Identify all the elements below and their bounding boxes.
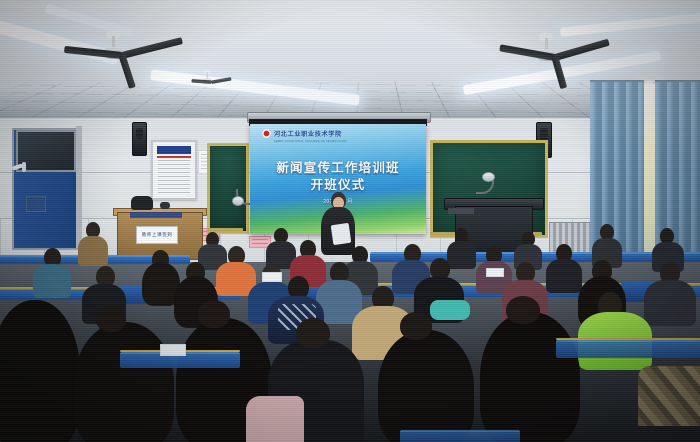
lectern-sign-text: 教师上课签到 xyxy=(142,232,173,238)
lectern-sign: 教师上课签到 xyxy=(136,226,178,244)
audience-body xyxy=(546,259,582,293)
ceiling-fan-icon xyxy=(112,36,114,38)
presenter-papers xyxy=(331,223,352,245)
slide-title-line-2: 开班仪式 xyxy=(250,174,426,193)
slide-logo-subtext: HEBEI VOCATIONAL COLLEGE OF TECHNOLOGY xyxy=(274,139,347,143)
desk-edge xyxy=(556,338,700,340)
paper-on-desk xyxy=(262,272,282,282)
projector-head-icon xyxy=(232,196,244,206)
paper-on-desk xyxy=(160,344,186,356)
audience-head xyxy=(400,312,432,340)
audience-foreground-hair xyxy=(0,300,80,442)
audience-camo-jacket xyxy=(638,366,700,426)
audience-body xyxy=(644,280,696,326)
ceiling-fan-icon xyxy=(545,38,547,40)
audience-head xyxy=(296,318,330,348)
notice-divider xyxy=(157,156,191,158)
audience-teal-scarf xyxy=(430,300,470,320)
desk-row xyxy=(556,340,700,358)
audience-head xyxy=(198,300,230,328)
audience-body xyxy=(78,236,108,266)
logo-mark-icon xyxy=(262,129,271,138)
door-frame xyxy=(76,126,82,248)
notice-header-bar xyxy=(157,146,191,154)
console-keyboard xyxy=(448,208,474,214)
desk-row xyxy=(400,430,520,442)
door-handle[interactable] xyxy=(22,162,26,172)
slide-institution-logo: 河北工业职业技术学院 xyxy=(262,129,342,138)
classroom-photograph: 河北工业职业技术学院 HEBEI VOCATIONAL COLLEGE OF T… xyxy=(0,0,700,442)
audience-head xyxy=(506,296,540,324)
lectern-banner xyxy=(130,212,182,218)
audience-foreground-hair xyxy=(480,312,580,442)
projector-head-icon xyxy=(482,172,495,182)
audience-sleeve xyxy=(246,396,304,442)
door-vent-panel xyxy=(26,196,46,212)
notice-body-text xyxy=(158,160,190,193)
wall-speaker-icon xyxy=(132,122,147,156)
bag-on-lectern xyxy=(131,196,153,210)
audience-body xyxy=(447,241,476,269)
audience-foreground-hair xyxy=(378,330,474,442)
audience-body xyxy=(33,264,71,298)
wall-notice-frame xyxy=(151,140,197,200)
audience-head xyxy=(96,306,126,332)
object-on-lectern xyxy=(160,202,170,209)
ceiling-fan-icon xyxy=(207,73,208,74)
audience-foreground-hair xyxy=(74,322,174,442)
paper-on-desk xyxy=(486,268,504,277)
slide-logo-text: 河北工业职业技术学院 xyxy=(274,129,342,138)
